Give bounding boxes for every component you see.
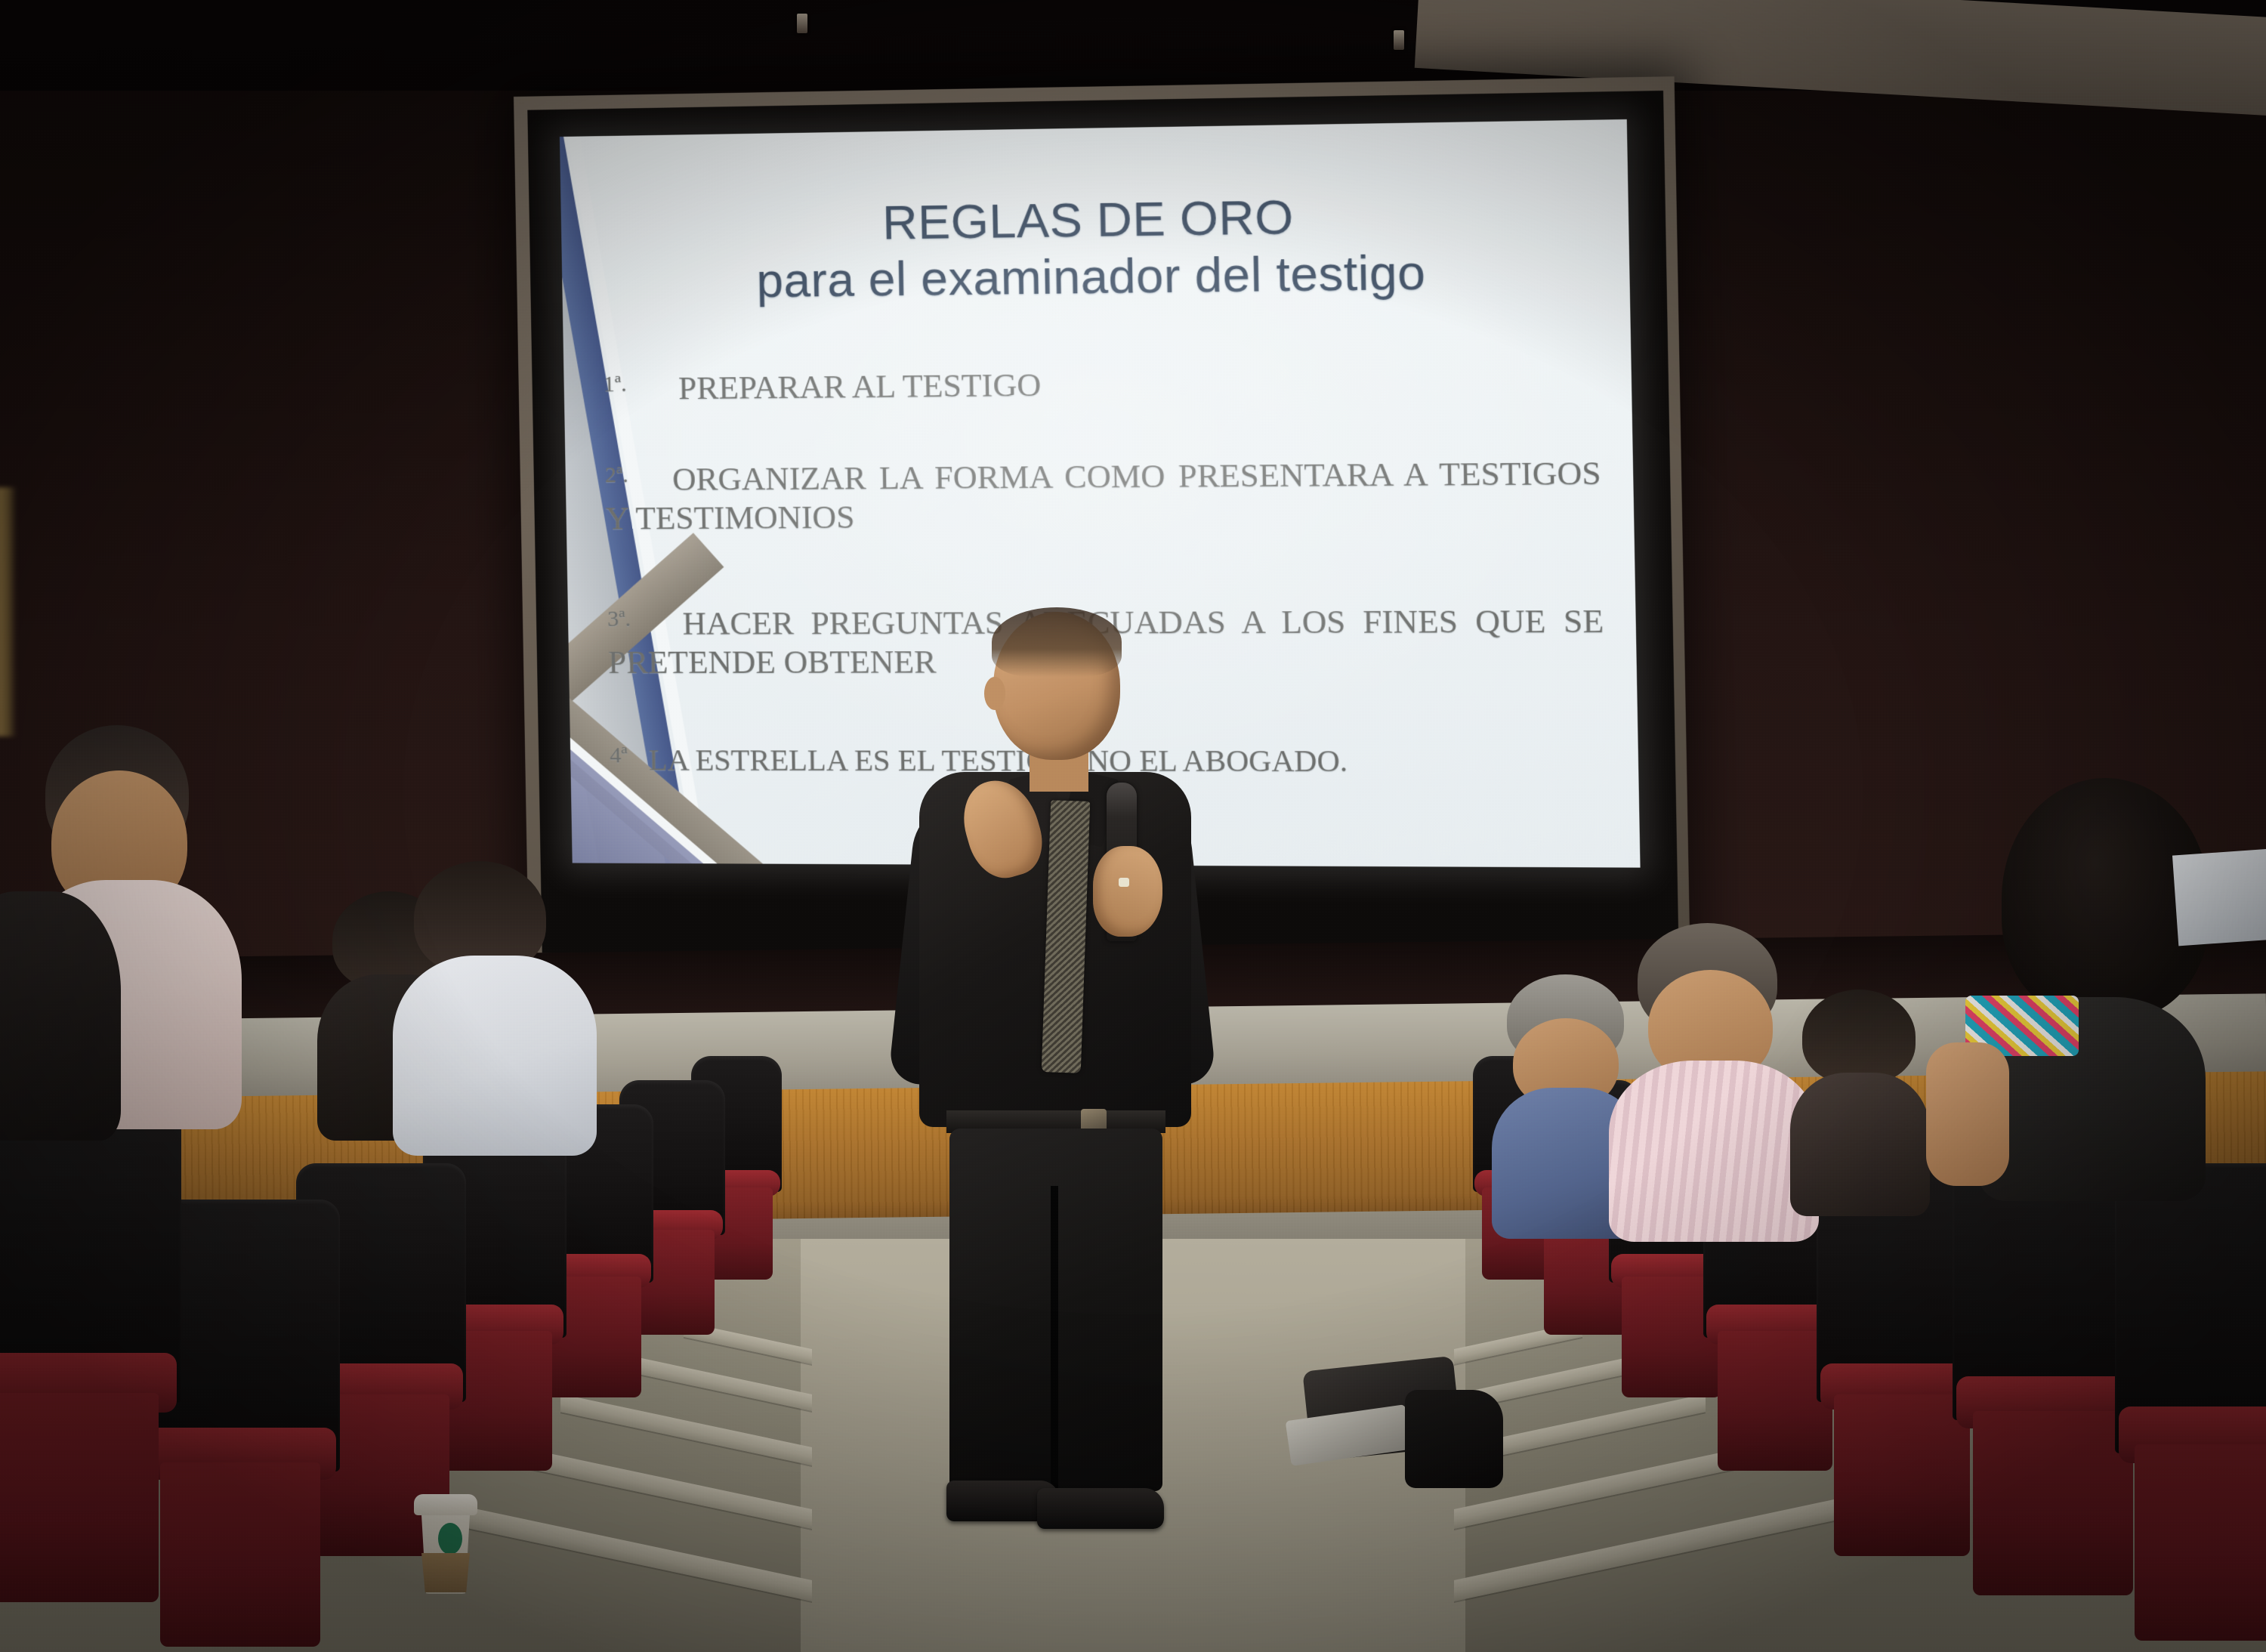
presenter-ring	[1119, 878, 1129, 887]
slide-rule-2: 2ª.ORGANIZAR LA FORMA COMO PRESENTARA A …	[605, 455, 1603, 539]
slide-rule-1-number: 1ª.	[603, 372, 626, 397]
slide-rule-1-text: PREPARAR AL TESTIGO	[678, 367, 1042, 406]
coffee-cup-lid	[414, 1494, 477, 1515]
seat	[0, 1094, 181, 1592]
hair	[1802, 990, 1916, 1084]
audience-member	[0, 823, 121, 1141]
shoe-on-step	[1405, 1390, 1503, 1488]
slide-rule-1: 1ª.PREPARAR AL TESTIGO	[603, 361, 1600, 409]
presenter-shoe-right	[1037, 1488, 1164, 1529]
presenter-hair	[992, 607, 1122, 677]
slide-rule-2-number: 2ª.	[605, 462, 628, 487]
ceiling-fixture-icon	[1394, 30, 1404, 50]
auditorium-scene: REGLAS DE ORO para el examinador del tes…	[0, 0, 2266, 1652]
presenter	[903, 612, 1205, 1541]
arm	[1926, 1042, 2009, 1186]
slide-rule-4-number: 4ª	[610, 743, 628, 767]
coffee-cup-sleeve	[420, 1553, 471, 1592]
audience-member	[1979, 778, 2228, 1201]
presenter-right-hand	[1093, 846, 1162, 937]
seat	[2115, 1163, 2266, 1632]
audience-member	[393, 861, 604, 1156]
ceiling-fixture-icon	[797, 14, 807, 33]
torso	[1609, 1061, 1819, 1242]
doorway-light-strip	[0, 487, 17, 736]
presenter-ear	[984, 677, 1005, 710]
slide-rule-2-text: ORGANIZAR LA FORMA COMO PRESENTARA A TES…	[605, 455, 1601, 536]
audience-member	[1790, 990, 1941, 1216]
torso	[393, 956, 597, 1156]
presenter-trouser-seam	[1051, 1186, 1058, 1488]
slide-rule-3-number: 3ª.	[607, 607, 631, 631]
torso	[1790, 1073, 1930, 1216]
paper-document	[2172, 849, 2266, 946]
coffee-cup	[414, 1481, 477, 1601]
slide-title-line-2: para el examinador del testigo	[562, 242, 1630, 310]
coffee-logo-icon	[438, 1523, 462, 1555]
torso	[0, 891, 121, 1141]
